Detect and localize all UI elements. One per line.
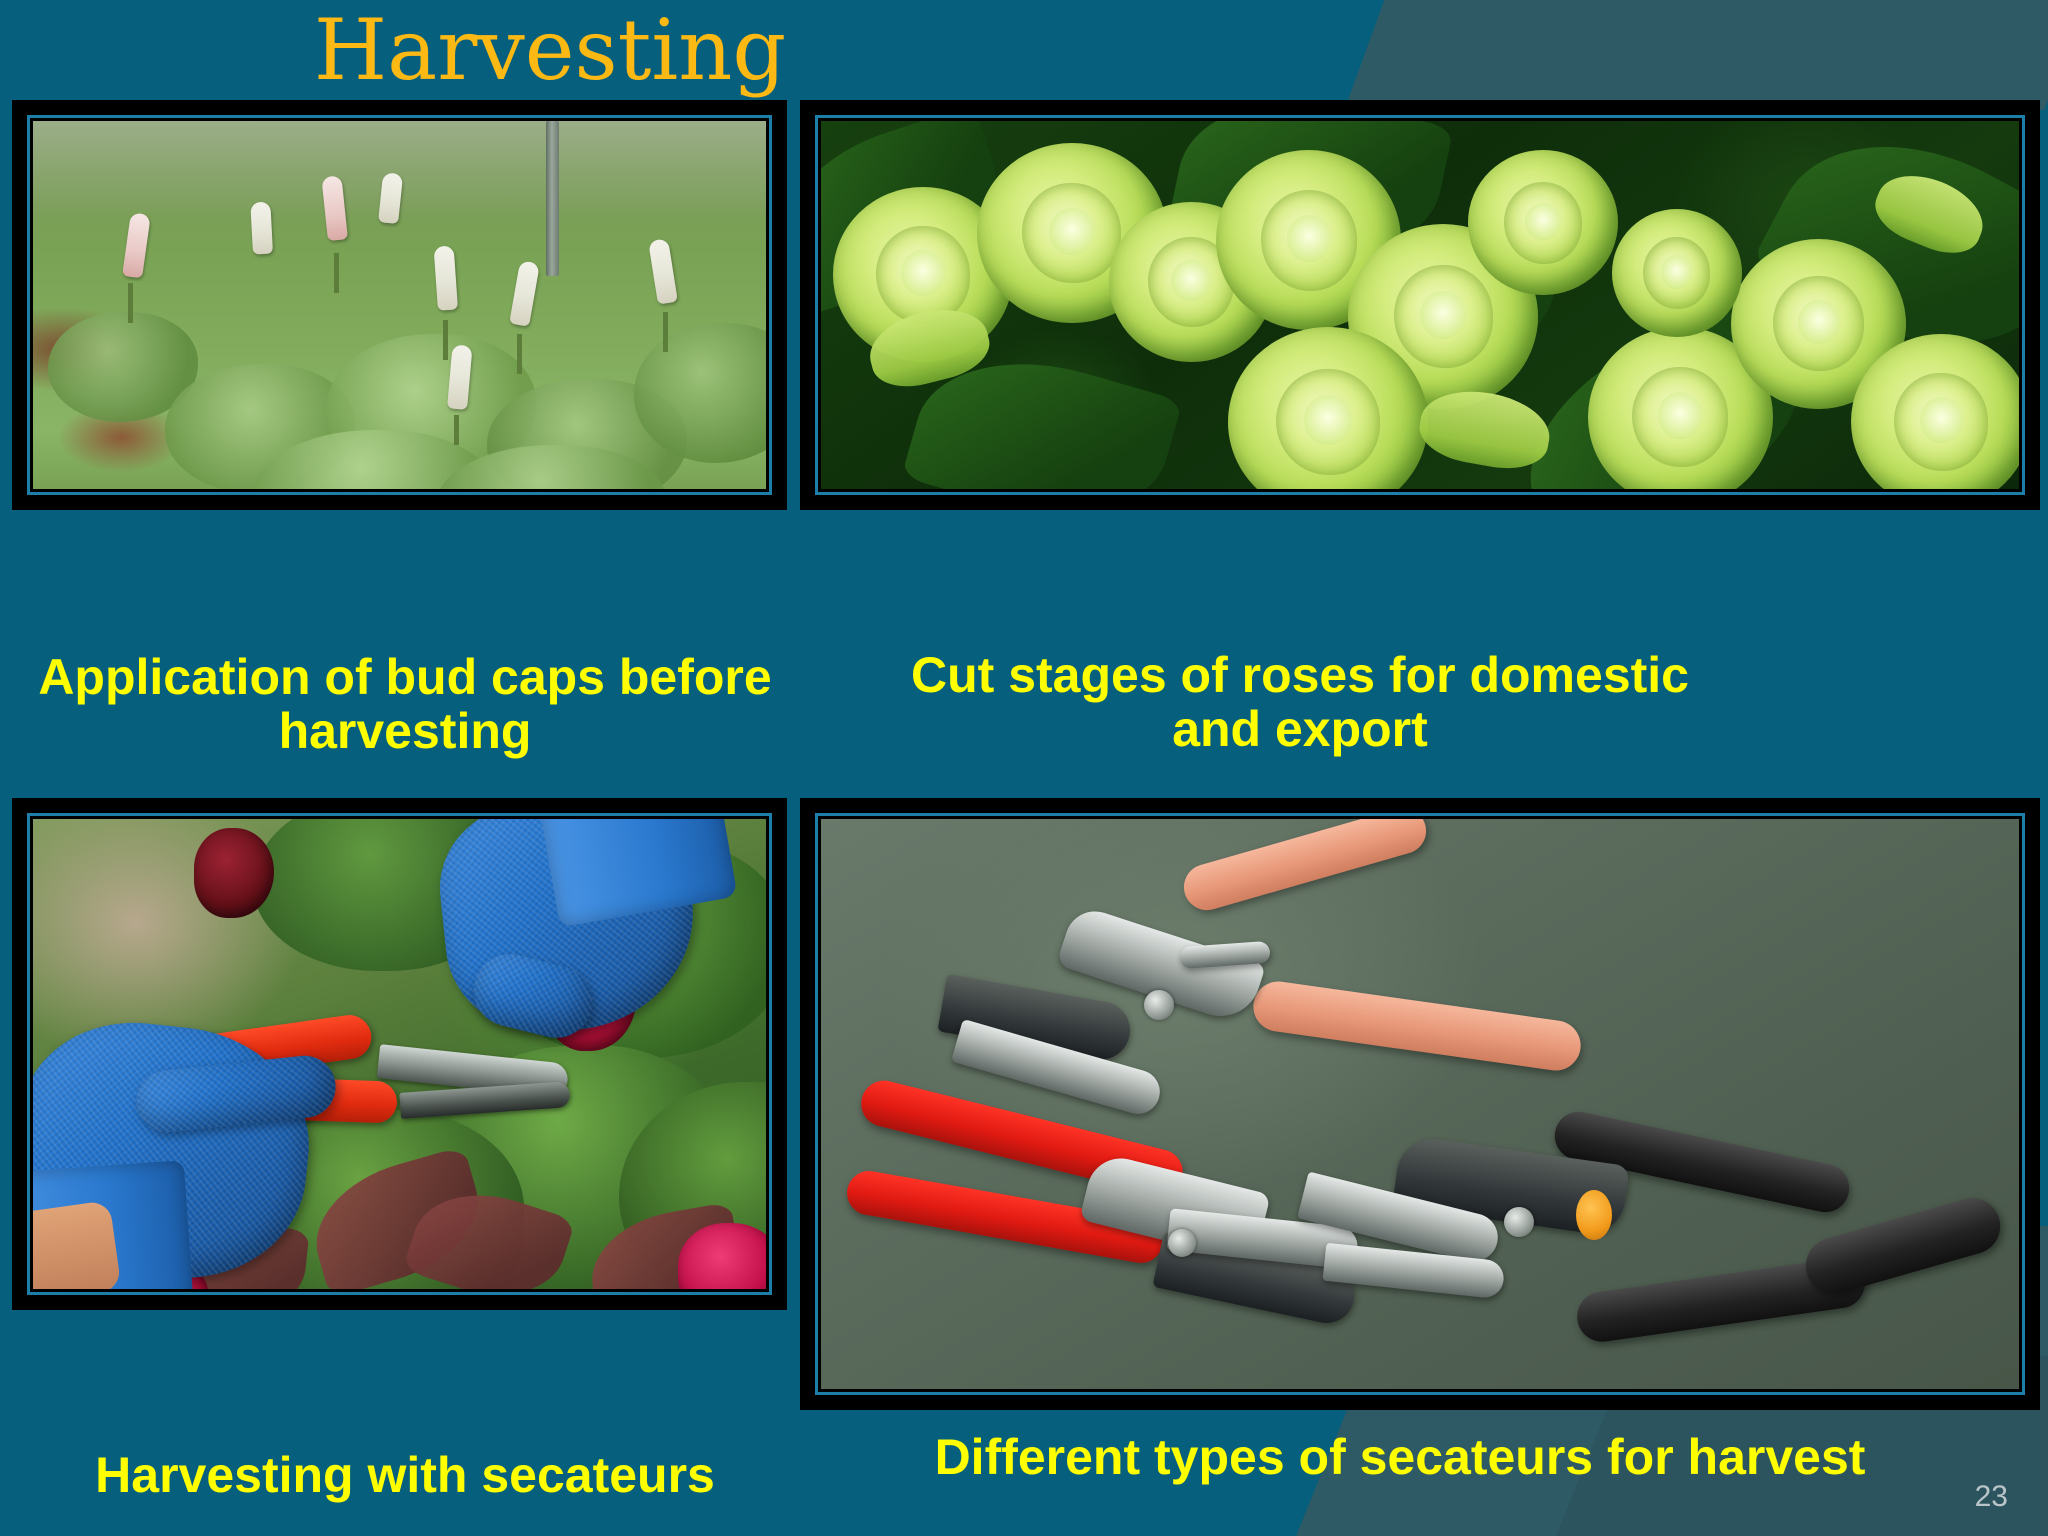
secateur-handle-peach (1250, 979, 1584, 1074)
photo-harvest-secateurs (33, 819, 766, 1289)
green-rose (1612, 209, 1742, 337)
green-rose (1468, 150, 1618, 295)
slide-title: Harvesting (0, 6, 1100, 94)
rose-stem (128, 283, 133, 323)
bud-cap (123, 212, 152, 278)
secateur-pivot-bolt (1504, 1207, 1534, 1237)
rose-stem (454, 415, 459, 445)
caption-bud-caps: Application of bud caps before harvestin… (20, 650, 790, 758)
caption-cut-stages: Cut stages of roses for domestic and exp… (880, 648, 1720, 756)
image-frame-harvest-secateurs (12, 798, 787, 1310)
image-frame-cut-stages (800, 100, 2040, 510)
page-number: 23 (1975, 1480, 2008, 1514)
image-frame-secateur-types (800, 798, 2040, 1410)
bud-cap (648, 238, 678, 304)
image-frame-inner-cut-stages (815, 115, 2025, 495)
bud-cap (433, 246, 457, 311)
bud-cap (510, 260, 541, 327)
photo-secateur-types (821, 819, 2019, 1389)
rose-stem (517, 334, 522, 374)
rose-stem (334, 253, 339, 293)
secateur-handle-peach (1179, 819, 1432, 916)
photo-bud-caps (33, 121, 766, 489)
forearm-skin (33, 1200, 122, 1289)
image-frame-bud-caps (12, 100, 787, 510)
greenhouse-pole (546, 121, 559, 276)
image-frame-inner-secateur-types (815, 813, 2025, 1395)
secateur-pivot-bolt (1144, 990, 1174, 1020)
bud-cap (250, 202, 273, 255)
slide-canvas: Harvesting (0, 0, 2048, 1536)
image-frame-inner-harvest-secateurs (27, 813, 772, 1295)
rose-stem (663, 312, 668, 352)
photo-cut-stages (821, 121, 2019, 489)
decorative-corner-top-right (1344, 0, 2048, 110)
rose-stem (443, 320, 448, 360)
secateur-orange-latch (1576, 1190, 1612, 1240)
caption-harvest-secateurs: Harvesting with secateurs (20, 1448, 790, 1502)
caption-secateur-types: Different types of secateurs for harvest (840, 1430, 1960, 1484)
image-frame-inner-bud-caps (27, 115, 772, 495)
